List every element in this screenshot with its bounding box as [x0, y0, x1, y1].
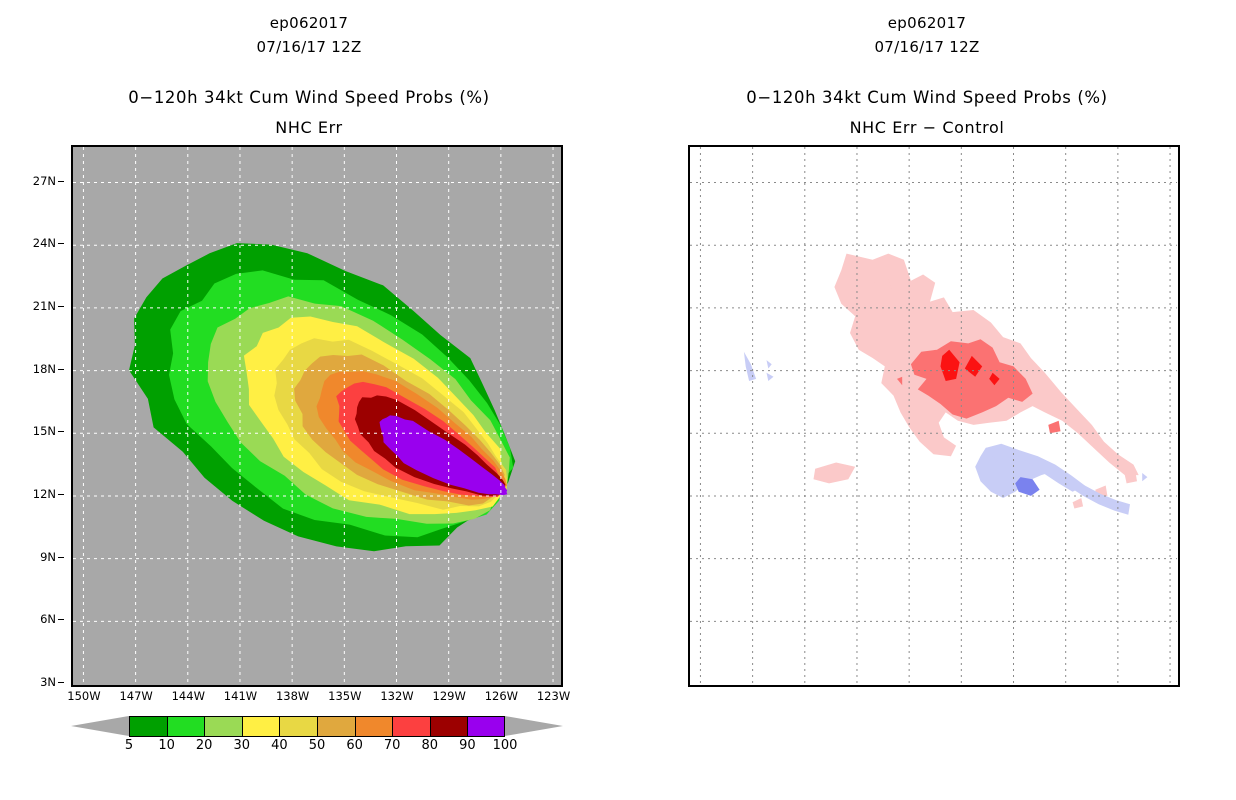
storm-id-label: ep062017 [0, 14, 618, 32]
panel-nhc-err-minus-control: ep062017 07/16/17 12Z 0−120h 34kt Cum Wi… [618, 0, 1236, 800]
chart-subtitle: NHC Err [0, 118, 618, 137]
colorbar-tick-label: 40 [271, 738, 288, 753]
probability-contour-field [73, 147, 560, 684]
forecast-datetime-label: 07/16/17 12Z [0, 38, 618, 56]
colorbar-segment [430, 716, 468, 737]
colorbar-tick-label: 100 [493, 738, 518, 753]
colorbar-tick-label: 30 [234, 738, 251, 753]
latitude-tick-label: 9N [40, 550, 64, 564]
colorbar-segment [204, 716, 242, 737]
chart-title: 0−120h 34kt Cum Wind Speed Probs (%) [0, 88, 618, 107]
longitude-axis-left: 150W147W144W141W138W135W132W129W126W123W [71, 689, 563, 711]
colorbar-tick-label: 60 [346, 738, 363, 753]
colorbar-tick-label: 5 [125, 738, 133, 753]
difference-contour-level--1 [744, 352, 756, 381]
colorbar-tick-label: 80 [422, 738, 439, 753]
difference-map-plot [688, 145, 1180, 687]
longitude-tick-label: 135W [328, 689, 361, 703]
colorbar-segment [355, 716, 393, 737]
colorbar-segment [392, 716, 430, 737]
difference-contour-level--1 [767, 373, 774, 381]
chart-title: 0−120h 34kt Cum Wind Speed Probs (%) [618, 88, 1236, 107]
storm-id-label: ep062017 [618, 14, 1236, 32]
chart-subtitle: NHC Err − Control [618, 118, 1236, 137]
latitude-tick-label: 18N [33, 362, 64, 376]
longitude-tick-label: 144W [172, 689, 205, 703]
latitude-tick-label: 6N [40, 612, 64, 626]
probability-map-plot [71, 145, 563, 687]
panel-nhc-err: ep062017 07/16/17 12Z 0−120h 34kt Cum Wi… [0, 0, 618, 800]
difference-contour-level--1 [1142, 473, 1147, 481]
latitude-tick-label: 12N [33, 487, 64, 501]
latitude-tick-label: 24N [33, 236, 64, 250]
colorbar-tick-label: 20 [196, 738, 213, 753]
latitude-tick-label: 15N [33, 424, 64, 438]
longitude-tick-label: 129W [433, 689, 466, 703]
latitude-tick-label: 21N [33, 299, 64, 313]
longitude-tick-label: 150W [67, 689, 100, 703]
longitude-tick-label: 147W [119, 689, 152, 703]
colorbar-tick-label: 90 [459, 738, 476, 753]
colorbar-tick-labels: 5102030405060708090100 [71, 738, 563, 758]
colorbar-segment [129, 716, 167, 737]
colorbar-segment [467, 716, 505, 737]
colorbar-tick-label: 10 [158, 738, 175, 753]
colorbar-segment [242, 716, 280, 737]
difference-contour-level--5 [1015, 477, 1039, 496]
forecast-datetime-label: 07/16/17 12Z [618, 38, 1236, 56]
difference-contour-field [690, 147, 1177, 684]
longitude-tick-label: 138W [276, 689, 309, 703]
difference-contour-level-3 [1048, 421, 1060, 434]
longitude-tick-label: 132W [380, 689, 413, 703]
difference-contour-level--1 [767, 360, 772, 368]
colorbar-tick-label: 50 [309, 738, 326, 753]
probability-colorbar: 5102030405060708090100 [71, 716, 563, 737]
colorbar-segment [317, 716, 355, 737]
colorbar-segments [129, 716, 505, 737]
latitude-tick-label: 3N [40, 675, 64, 689]
longitude-tick-label: 123W [537, 689, 570, 703]
colorbar-segment [167, 716, 205, 737]
difference-contour-level-1 [1073, 498, 1084, 509]
colorbar-high-arrow [505, 716, 563, 736]
colorbar-tick-label: 70 [384, 738, 401, 753]
colorbar-segment [279, 716, 317, 737]
colorbar-low-arrow [71, 716, 129, 736]
latitude-axis-left: 27N24N21N18N15N12N9N6N3N [20, 145, 64, 687]
longitude-tick-label: 141W [224, 689, 257, 703]
latitude-tick-label: 27N [33, 174, 64, 188]
difference-contour-level-1 [814, 463, 856, 484]
longitude-tick-label: 126W [485, 689, 518, 703]
